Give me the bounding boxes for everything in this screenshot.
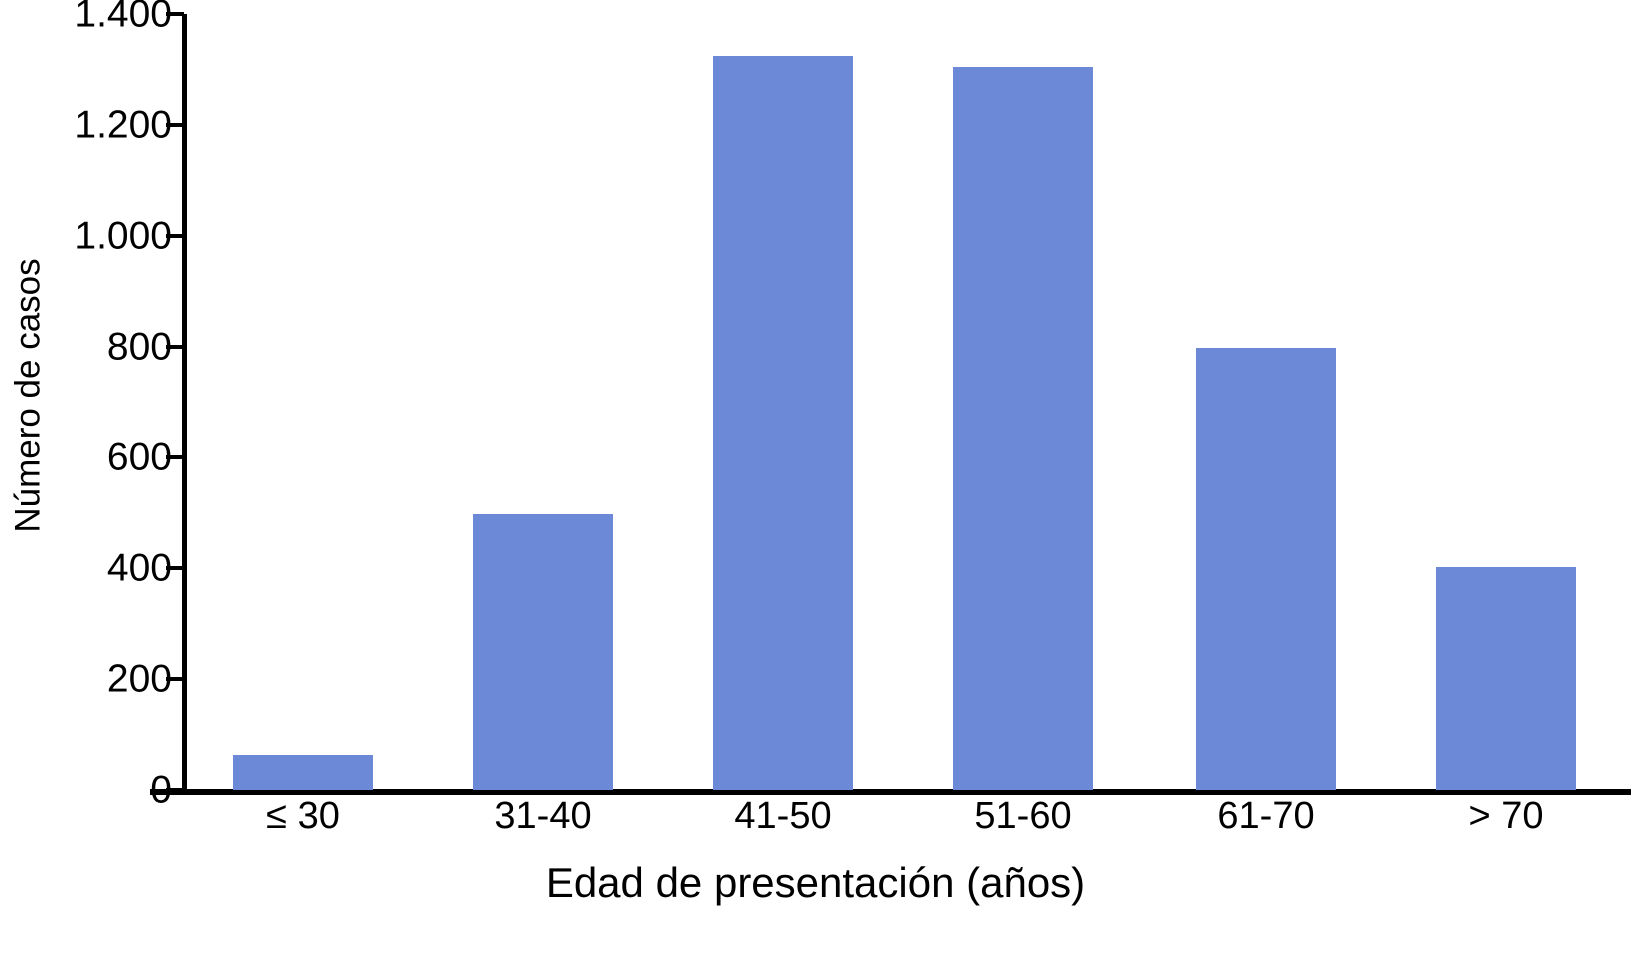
bar bbox=[473, 514, 613, 790]
y-axis-tick-mark bbox=[166, 677, 184, 681]
y-axis-tick-mark bbox=[166, 12, 184, 16]
x-axis-title: Edad de presentación (años) bbox=[0, 862, 1631, 904]
bar bbox=[1436, 567, 1576, 790]
y-axis-tick-mark bbox=[166, 566, 184, 570]
bar bbox=[233, 755, 373, 790]
x-axis-tick-label: ≤ 30 bbox=[266, 797, 340, 835]
x-axis-title-label: Edad de presentación (años) bbox=[546, 859, 1085, 906]
y-axis-tick-mark bbox=[166, 788, 184, 792]
bar bbox=[953, 67, 1093, 790]
bar bbox=[713, 56, 853, 790]
y-axis-tick-mark bbox=[166, 455, 184, 459]
bar-chart-figure: Número de casos 1.4001.2001.000800600400… bbox=[0, 0, 1631, 953]
x-axis-tick-label: > 70 bbox=[1468, 797, 1543, 835]
bar bbox=[1196, 348, 1336, 790]
y-axis-tick-mark bbox=[166, 123, 184, 127]
y-axis-tick-mark bbox=[166, 345, 184, 349]
x-axis-tick-label: 61-70 bbox=[1217, 797, 1314, 835]
plot-area bbox=[0, 0, 1631, 790]
y-axis-tick-mark bbox=[166, 234, 184, 238]
x-axis-tick-label: 31-40 bbox=[494, 797, 591, 835]
x-axis-tick-label: 51-60 bbox=[974, 797, 1071, 835]
x-axis-tick-label: 41-50 bbox=[734, 797, 831, 835]
